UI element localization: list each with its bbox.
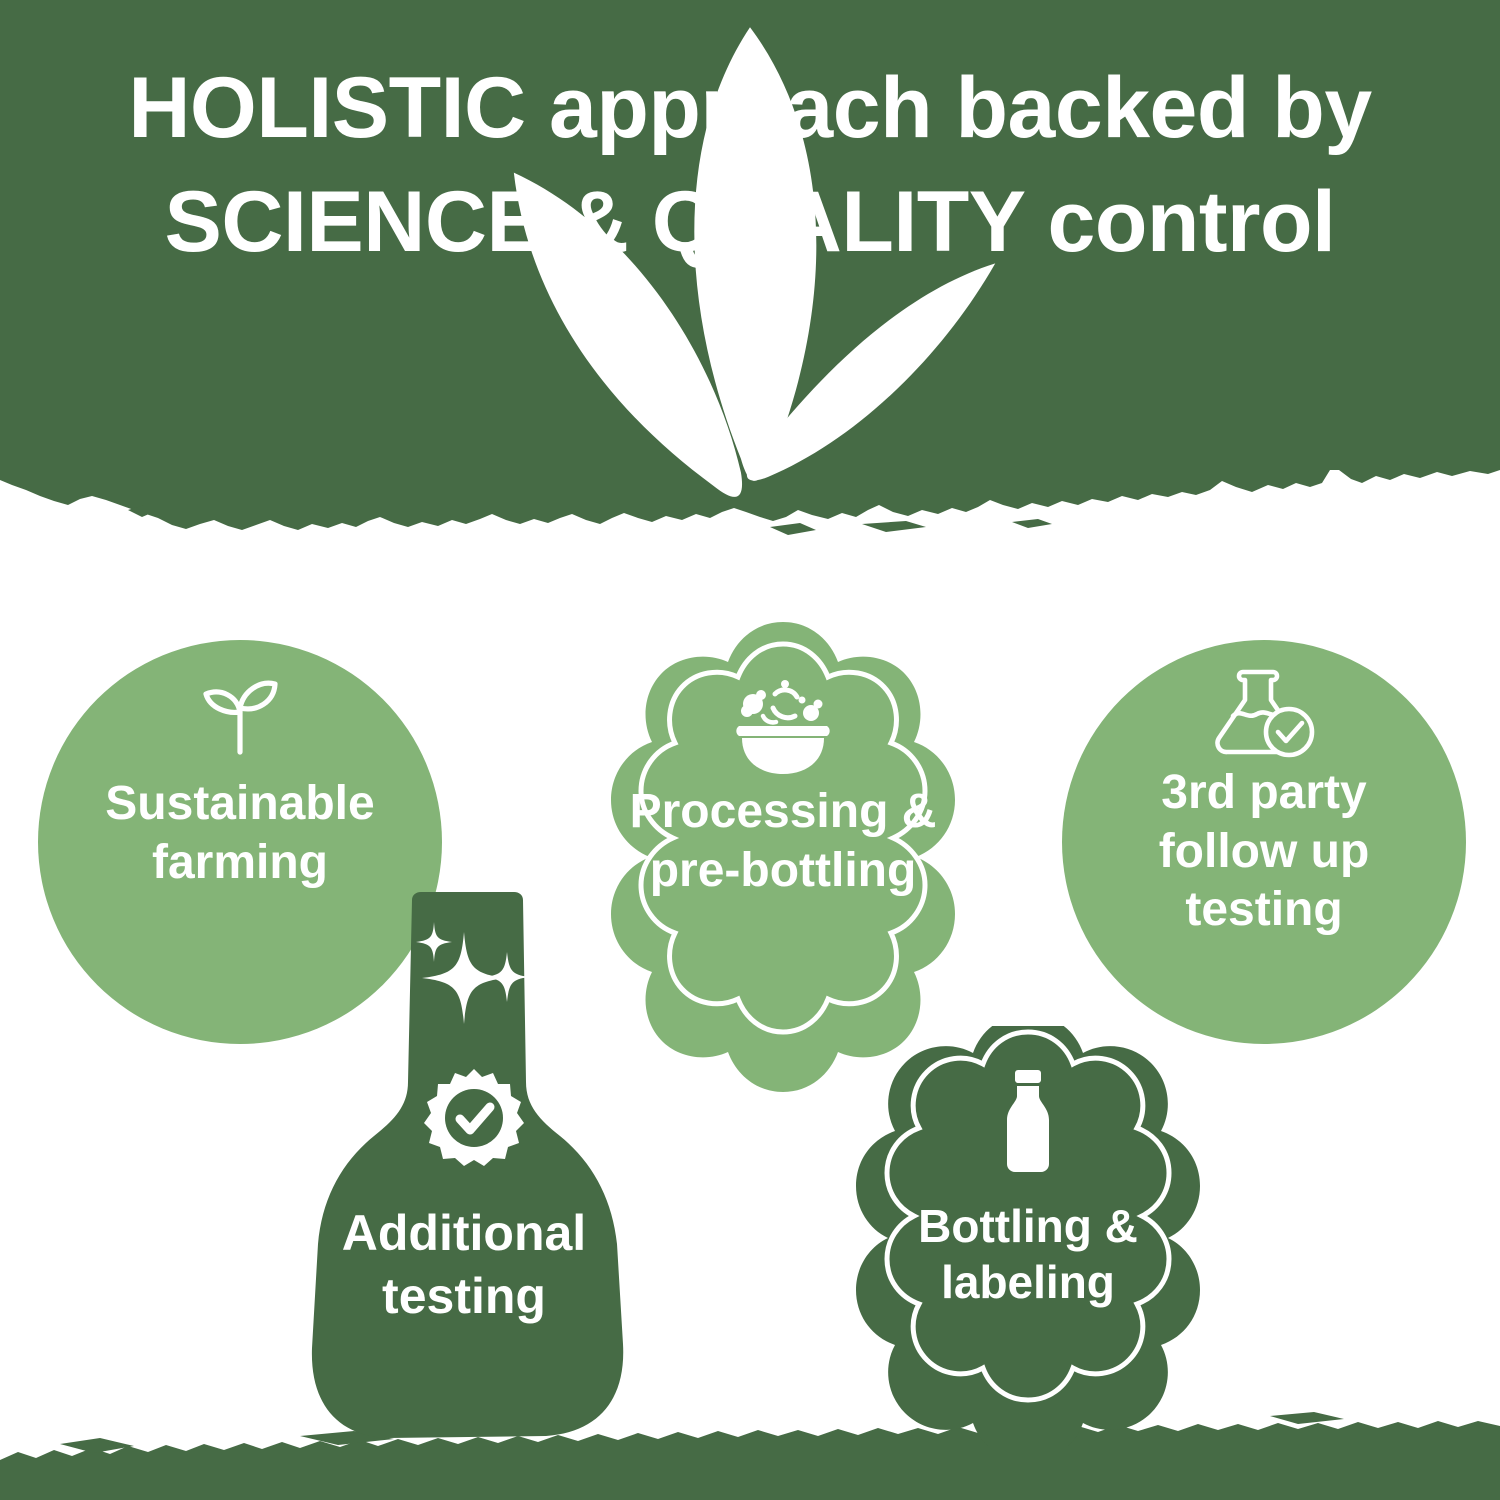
step-label-processing-pre-bottling: Processing & pre-bottling — [548, 783, 1018, 900]
step-card-additional-testing[interactable]: Additional testing — [288, 892, 640, 1440]
leaf-logo-icon — [0, 0, 1500, 545]
flask-check-icon — [1211, 664, 1317, 762]
brush-stroke-strip — [0, 1400, 1500, 1500]
check-seal-icon — [424, 1068, 524, 1168]
header-band: HOLISTIC approach backed by SCIENCE & QU… — [0, 0, 1500, 545]
label-line-3: testing — [1062, 881, 1466, 940]
label-line-1: Processing & — [548, 783, 1018, 842]
label-line-1: Sustainable — [38, 775, 442, 834]
step-card-bottling-labeling[interactable]: Bottling & labeling — [818, 1026, 1238, 1446]
step-label-sustainable-farming: Sustainable farming — [38, 775, 442, 892]
label-line-2: testing — [288, 1265, 640, 1328]
milk-bottle-icon — [997, 1070, 1059, 1176]
step-label-additional-testing: Additional testing — [288, 1202, 640, 1328]
infographic-page: HOLISTIC approach backed by SCIENCE & QU… — [0, 0, 1500, 1500]
label-line-1: 3rd party — [1062, 764, 1466, 823]
label-line-1: Bottling & — [818, 1198, 1238, 1254]
label-line-2: follow up — [1062, 823, 1466, 882]
step-label-third-party-testing: 3rd party follow up testing — [1062, 764, 1466, 940]
step-card-third-party-testing[interactable]: 3rd party follow up testing — [1062, 640, 1466, 1044]
step-label-bottling-labeling: Bottling & labeling — [818, 1198, 1238, 1310]
label-line-2: farming — [38, 834, 442, 893]
label-line-1: Additional — [288, 1202, 640, 1265]
sprout-icon — [193, 672, 287, 758]
bowl-icon — [723, 670, 843, 774]
label-line-2: labeling — [818, 1254, 1238, 1310]
sparkles-icon — [410, 918, 534, 1032]
